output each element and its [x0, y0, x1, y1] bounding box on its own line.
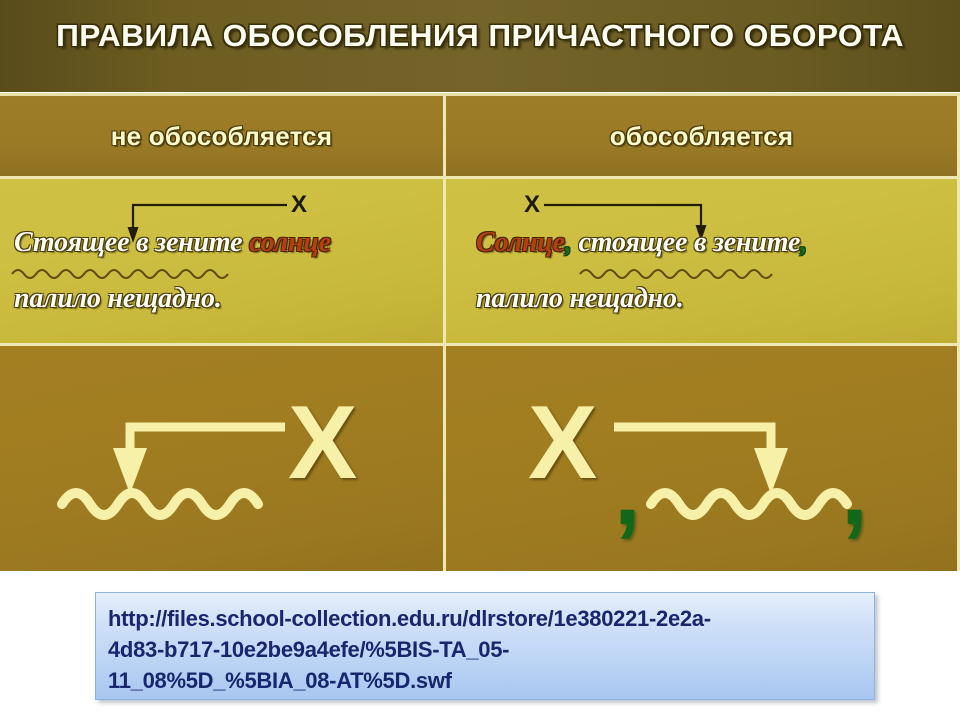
- diagram-x-mark-isolated: X: [528, 391, 597, 495]
- slide: ПРАВИЛА ОБОСОБЛЕНИЯ ПРИЧАСТНОГО ОБОРОТА …: [0, 0, 960, 720]
- diagram-cell-isolated: X , ,: [446, 346, 960, 571]
- example-line2-not-isolated: палило нещадно.: [14, 283, 222, 315]
- header-label-not-isolated: не обособляется: [111, 121, 332, 152]
- diagram-cell-not-isolated: X: [0, 346, 446, 571]
- header-cell-not-isolated: не обособляется: [0, 96, 446, 179]
- diagram-arrow-isolated: [446, 346, 960, 571]
- table-header-row: не обособляется обособляется: [0, 96, 960, 179]
- example-wavy-underline-isolated: [446, 179, 960, 346]
- example-cell-not-isolated: X Стоящее в зените солнце палило нещадно…: [0, 179, 446, 346]
- example-line2-isolated: палило нещадно.: [476, 283, 684, 315]
- source-url-line-2: 4d83-b717-10e2be9a4efe/%5BIS-TA_05-: [108, 634, 874, 665]
- source-url-line-3: 11_08%5D_%5BIA_08-AT%5D.swf: [108, 665, 874, 696]
- diagram-arrow-not-isolated: [0, 346, 446, 571]
- header-cell-isolated: обособляется: [446, 96, 960, 179]
- table-diagram-row: X X , ,: [0, 346, 960, 571]
- diagram-comma-open: ,: [614, 444, 641, 540]
- source-url-line-1: http://files.school-collection.edu.ru/dl…: [108, 603, 874, 634]
- diagram-comma-close: ,: [841, 444, 868, 540]
- table-example-row: X Стоящее в зените солнце палило нещадно…: [0, 179, 960, 346]
- diagram-x-mark-not-isolated: X: [288, 391, 357, 495]
- title-band: ПРАВИЛА ОБОСОБЛЕНИЯ ПРИЧАСТНОГО ОБОРОТА: [0, 0, 960, 92]
- source-url-box[interactable]: http://files.school-collection.edu.ru/dl…: [95, 592, 875, 700]
- page-title: ПРАВИЛА ОБОСОБЛЕНИЯ ПРИЧАСТНОГО ОБОРОТА: [0, 18, 960, 54]
- header-label-isolated: обособляется: [610, 121, 793, 152]
- example-wavy-underline-not-isolated: [0, 179, 446, 346]
- rules-table: не обособляется обособляется X Стоящее: [0, 93, 960, 574]
- example-cell-isolated: X Солнце, стоящее в зените, палило нещад…: [446, 179, 960, 346]
